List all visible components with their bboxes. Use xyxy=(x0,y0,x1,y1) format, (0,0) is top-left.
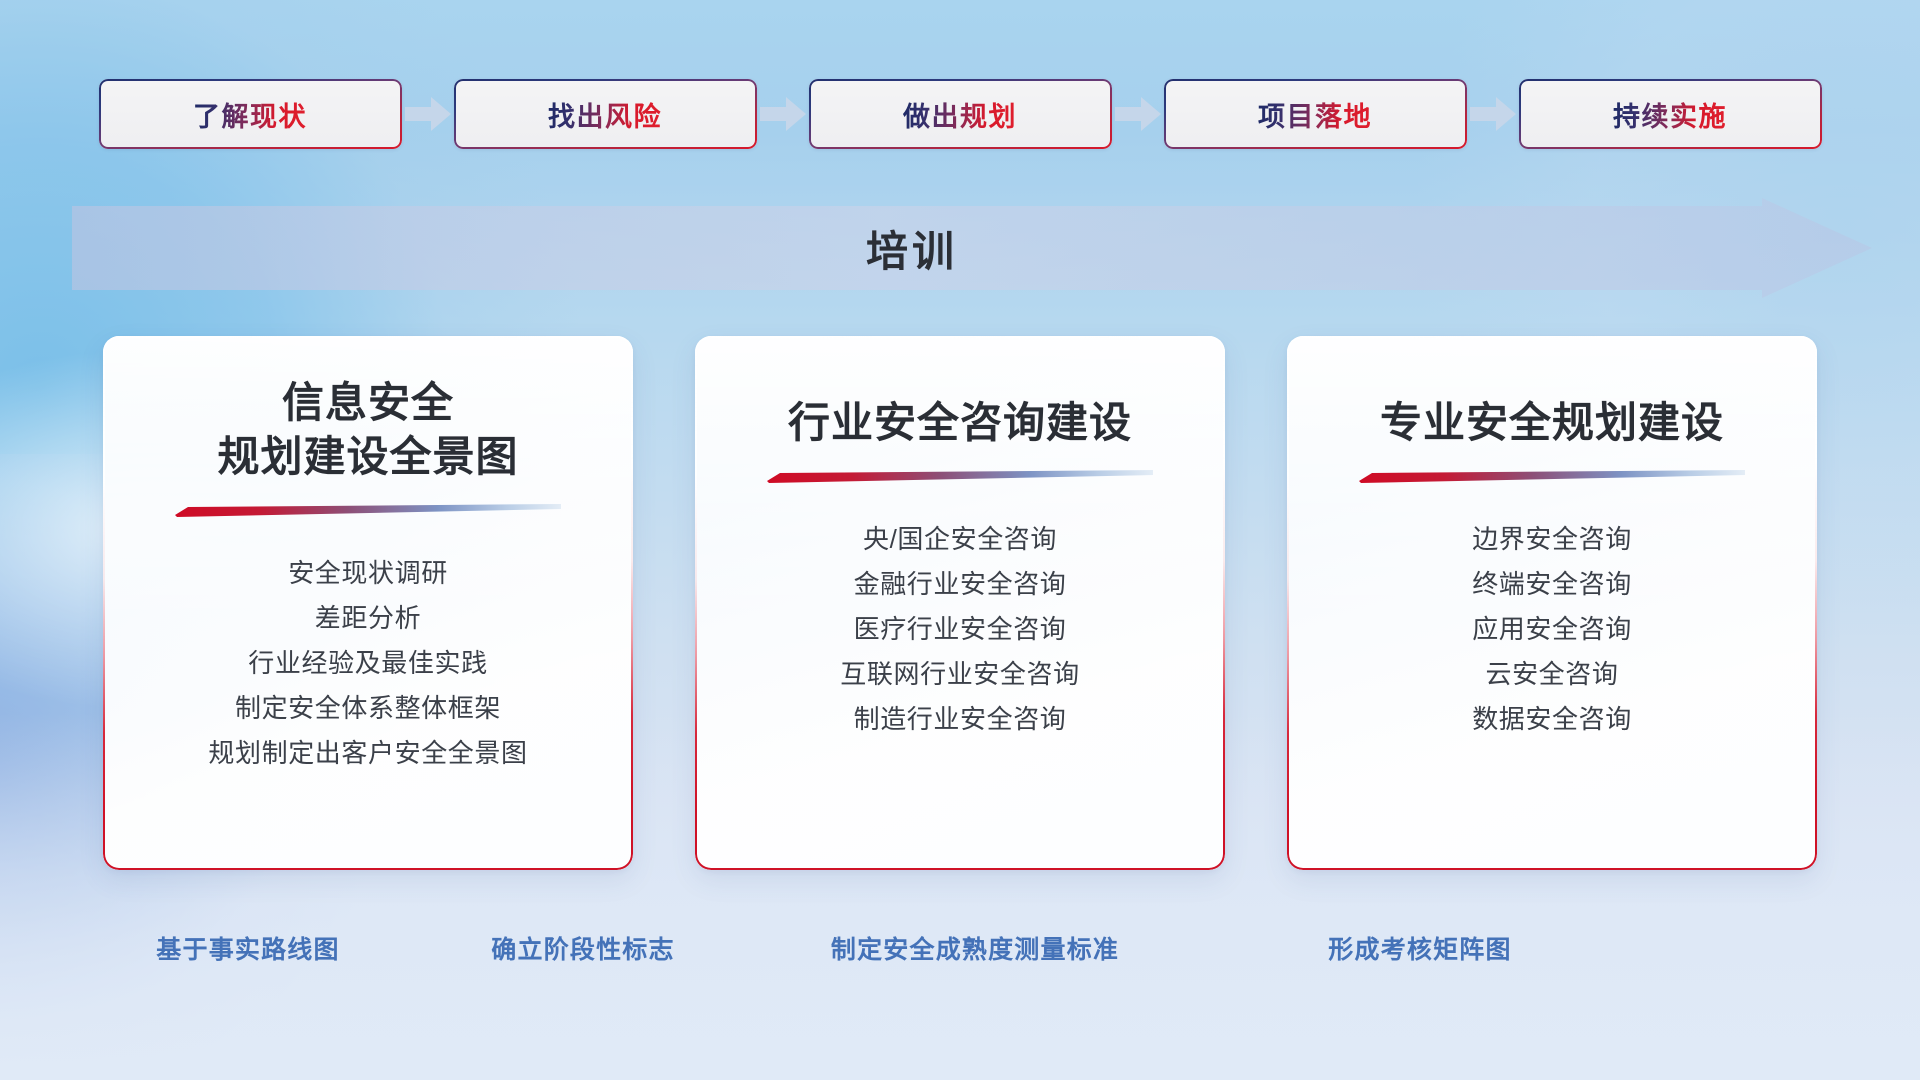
list-item: 边界安全咨询 xyxy=(1313,517,1791,562)
list-item: 规划制定出客户安全全景图 xyxy=(129,731,607,776)
card-professional-security-planning[interactable]: 专业安全规划建设 xyxy=(1287,336,1817,870)
step-label-4: 项目落地 xyxy=(1258,95,1372,134)
banner-label: 培训 xyxy=(72,198,1872,298)
gradient-divider-icon xyxy=(1359,470,1745,483)
step-label-3: 做出规划 xyxy=(903,95,1017,134)
list-item: 互联网行业安全咨询 xyxy=(721,652,1199,697)
step-label-1: 了解现状 xyxy=(193,95,307,134)
list-item: 差距分析 xyxy=(129,596,607,641)
step-box-4[interactable]: 项目落地 xyxy=(1164,79,1467,149)
card-title: 信息安全 规划建设全景图 xyxy=(217,376,518,484)
bottom-label-3: 制定安全成熟度测量标准 xyxy=(831,930,1119,966)
list-item: 医疗行业安全咨询 xyxy=(721,607,1199,652)
arrow-right-icon xyxy=(402,79,454,149)
process-step-row: 了解现状 找出风险 做出规划 项目落地 持续实施 xyxy=(0,78,1920,150)
card-item-list: 央/国企安全咨询 金融行业安全咨询 医疗行业安全咨询 互联网行业安全咨询 制造行… xyxy=(721,517,1199,742)
arrow-right-icon xyxy=(1467,79,1519,149)
step-label-2: 找出风险 xyxy=(548,95,662,134)
card-title: 专业安全规划建设 xyxy=(1380,396,1724,450)
list-item: 安全现状调研 xyxy=(129,551,607,596)
training-banner: 培训 xyxy=(72,198,1872,298)
card-item-list: 安全现状调研 差距分析 行业经验及最佳实践 制定安全体系整体框架 规划制定出客户… xyxy=(129,551,607,776)
step-label-5: 持续实施 xyxy=(1613,95,1727,134)
list-item: 制定安全体系整体框架 xyxy=(129,686,607,731)
step-box-5[interactable]: 持续实施 xyxy=(1519,79,1822,149)
list-item: 终端安全咨询 xyxy=(1313,562,1791,607)
list-item: 应用安全咨询 xyxy=(1313,607,1791,652)
bottom-label-4: 形成考核矩阵图 xyxy=(1328,930,1511,966)
bottom-label-2: 确立阶段性标志 xyxy=(491,930,674,966)
card-industry-security-consulting[interactable]: 行业安全咨询建设 xyxy=(695,336,1225,870)
card-title: 行业安全咨询建设 xyxy=(788,396,1132,450)
arrow-right-icon xyxy=(757,79,809,149)
bottom-outcome-labels: 基于事实路线图 确立阶段性标志 制定安全成熟度测量标准 形成考核矩阵图 xyxy=(0,930,1920,976)
list-item: 数据安全咨询 xyxy=(1313,697,1791,742)
list-item: 金融行业安全咨询 xyxy=(721,562,1199,607)
step-box-1[interactable]: 了解现状 xyxy=(99,79,402,149)
card-row: 信息安全 规划建设全景图 xyxy=(0,336,1920,876)
list-item: 央/国企安全咨询 xyxy=(721,517,1199,562)
gradient-divider-icon xyxy=(767,470,1153,483)
list-item: 云安全咨询 xyxy=(1313,652,1791,697)
card-info-security-blueprint[interactable]: 信息安全 规划建设全景图 xyxy=(103,336,633,870)
bottom-label-1: 基于事实路线图 xyxy=(156,930,339,966)
list-item: 行业经验及最佳实践 xyxy=(129,641,607,686)
arrow-right-icon xyxy=(1112,79,1164,149)
step-box-3[interactable]: 做出规划 xyxy=(809,79,1112,149)
gradient-divider-icon xyxy=(175,504,561,517)
list-item: 制造行业安全咨询 xyxy=(721,697,1199,742)
card-item-list: 边界安全咨询 终端安全咨询 应用安全咨询 云安全咨询 数据安全咨询 xyxy=(1313,517,1791,742)
step-box-2[interactable]: 找出风险 xyxy=(454,79,757,149)
